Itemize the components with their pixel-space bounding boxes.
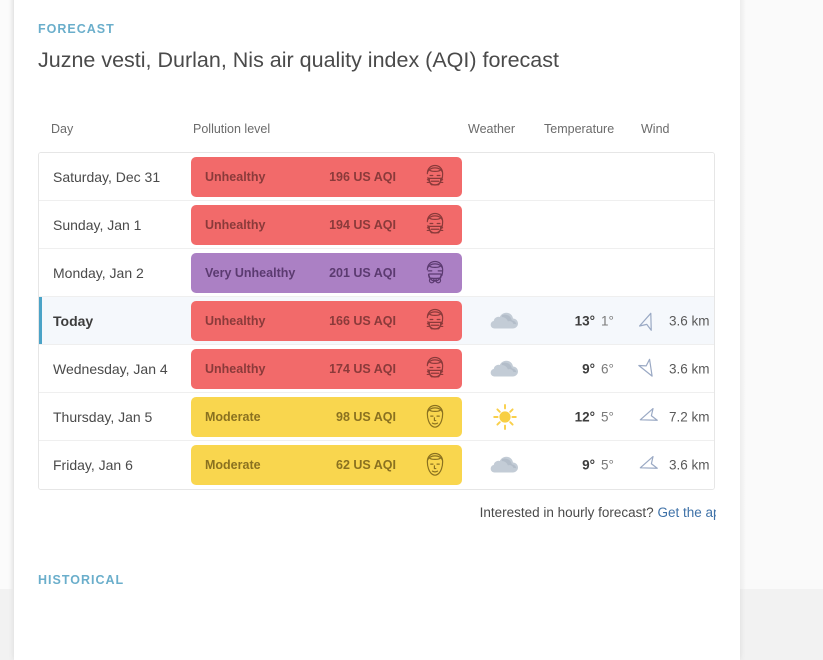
temperature-high: 9° [563,458,595,473]
column-header-weather: Weather [468,122,515,136]
aqi-value-label: 62 US AQI [336,458,396,472]
forecast-table: Day Pollution level Weather Temperature … [38,118,728,490]
wind-speed-label: 7.2 km [669,409,710,424]
temperature-low: 6° [601,361,627,376]
cloud-icon [488,354,522,384]
hourly-forecast-prompt: Interested in hourly forecast? [480,505,654,520]
temperature-low: 1° [601,313,627,328]
pollution-level-pill[interactable]: Moderate 98 US AQI [191,397,462,437]
cloud-icon [488,450,522,480]
aqi-value-label: 98 US AQI [336,410,396,424]
face-plain-icon [418,400,452,434]
table-row[interactable]: Monday, Jan 2 Very Unhealthy 201 US AQI [39,249,714,297]
column-header-day: Day [51,122,73,136]
row-day-label: Thursday, Jan 5 [53,409,152,425]
table-row[interactable]: Sunday, Jan 1 Unhealthy 194 US AQI [39,201,714,249]
pollution-level-label: Unhealthy [205,170,265,184]
temperature-high: 9° [563,361,595,376]
row-day-label: Sunday, Jan 1 [53,217,141,233]
pollution-level-pill[interactable]: Very Unhealthy 201 US AQI [191,253,462,293]
forecast-content: FORECAST Juzne vesti, Durlan, Nis air qu… [38,0,728,589]
historical-section-eyebrow: HISTORICAL [38,573,124,587]
today-indicator-bar [39,297,42,344]
aqi-value-label: 201 US AQI [329,266,396,280]
pollution-level-label: Moderate [205,458,261,472]
row-day-label: Today [53,313,93,329]
sheet-right-clip [716,0,740,589]
temperature-high: 12° [563,409,595,424]
page-right-shadow [740,0,746,589]
row-day-label: Friday, Jan 6 [53,457,133,473]
pollution-level-pill[interactable]: Moderate 62 US AQI [191,445,462,485]
wind-speed-label: 3.6 km [669,361,710,376]
wind-speed-label: 3.6 km [669,313,710,328]
temperature-high: 13° [563,313,595,328]
face-mask-icon [418,208,452,242]
wind-speed-label: 3.6 km [669,458,710,473]
row-day-label: Saturday, Dec 31 [53,169,160,185]
aqi-value-label: 196 US AQI [329,170,396,184]
table-body: Saturday, Dec 31 Unhealthy 196 US AQI Su… [38,152,715,490]
pollution-level-label: Moderate [205,410,261,424]
column-header-wind: Wind [641,122,669,136]
table-footer: Interested in hourly forecast? Get the a… [38,505,728,520]
wind-arrow-icon [637,406,659,428]
row-day-label: Monday, Jan 2 [53,265,144,281]
page-title: Juzne vesti, Durlan, Nis air quality ind… [38,48,559,73]
temperature-low: 5° [601,458,627,473]
temperature-low: 5° [601,409,627,424]
wind-arrow-icon [637,454,659,476]
aqi-value-label: 166 US AQI [329,314,396,328]
face-respirator-icon [418,256,452,290]
table-header-row: Day Pollution level Weather Temperature … [38,118,728,152]
pollution-level-pill[interactable]: Unhealthy 194 US AQI [191,205,462,245]
pollution-level-label: Unhealthy [205,362,265,376]
forecast-section-eyebrow: FORECAST [38,22,115,36]
wind-arrow-icon [637,358,659,380]
row-day-label: Wednesday, Jan 4 [53,361,168,377]
aqi-value-label: 174 US AQI [329,362,396,376]
pollution-level-pill[interactable]: Unhealthy 166 US AQI [191,301,462,341]
face-plain-icon [418,448,452,482]
table-row[interactable]: Saturday, Dec 31 Unhealthy 196 US AQI [39,153,714,201]
face-mask-icon [418,304,452,338]
pollution-level-pill[interactable]: Unhealthy 196 US AQI [191,157,462,197]
table-row[interactable]: Wednesday, Jan 4 Unhealthy 174 US AQI [39,345,714,393]
pollution-level-label: Very Unhealthy [205,266,295,280]
table-row[interactable]: Today Unhealthy 166 US AQI [39,297,714,345]
column-header-temperature: Temperature [544,122,614,136]
pollution-level-pill[interactable]: Unhealthy 174 US AQI [191,349,462,389]
pollution-level-label: Unhealthy [205,218,265,232]
column-header-pollution: Pollution level [193,122,270,136]
aqi-value-label: 194 US AQI [329,218,396,232]
wind-arrow-icon [637,310,659,332]
page-right-gutter [740,0,823,589]
face-mask-icon [418,352,452,386]
table-row[interactable]: Thursday, Jan 5 Moderate 98 US AQI [39,393,714,441]
face-mask-icon [418,160,452,194]
cloud-icon [488,306,522,336]
sun-icon [488,402,522,432]
pollution-level-label: Unhealthy [205,314,265,328]
table-row[interactable]: Friday, Jan 6 Moderate 62 US AQI [39,441,714,489]
